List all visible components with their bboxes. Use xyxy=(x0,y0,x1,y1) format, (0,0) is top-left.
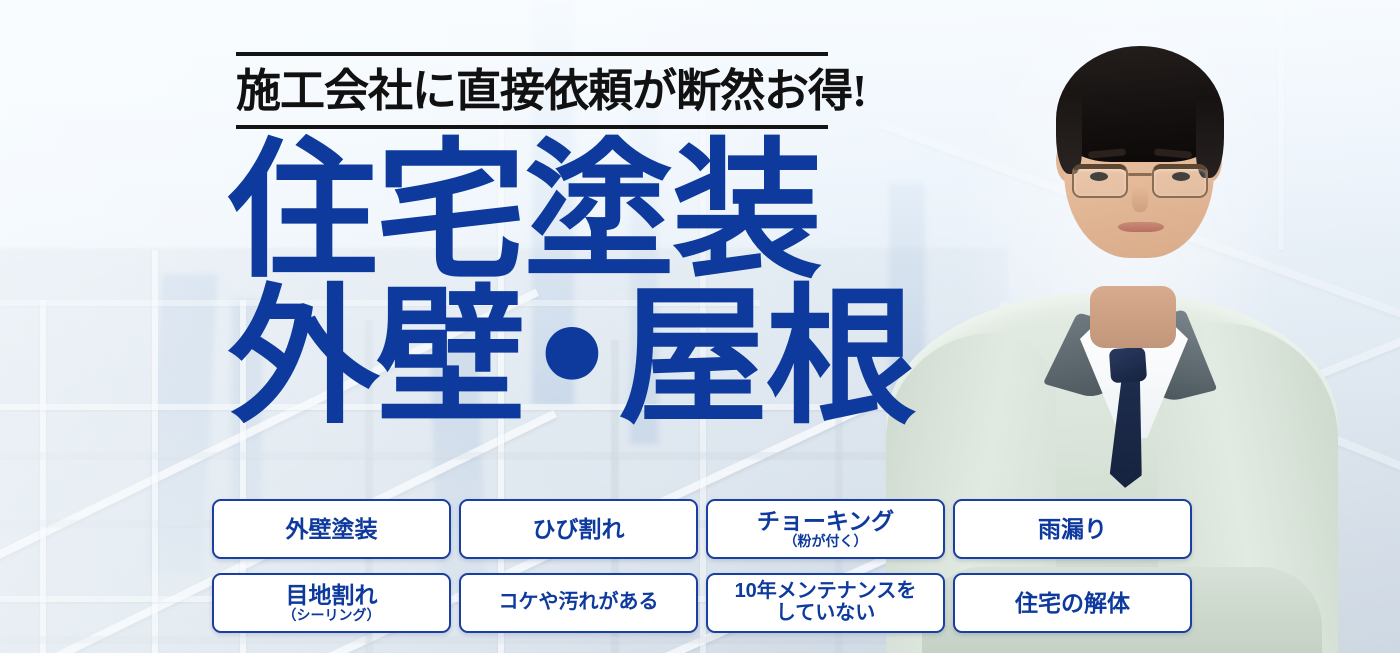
service-tag-grid: 外壁塗装 ひび割れ チョーキング （粉が付く） 雨漏り 目地割れ （シーリング）… xyxy=(212,499,1192,633)
service-tag-chalking[interactable]: チョーキング （粉が付く） xyxy=(706,499,945,559)
heading-line-2: 外壁•屋根 xyxy=(228,286,848,432)
tagline-middle: が xyxy=(632,66,676,116)
glasses-bridge xyxy=(1128,173,1152,176)
necktie-knot xyxy=(1109,347,1147,383)
tag-sublabel: （粉が付く） xyxy=(784,534,868,549)
glasses-lens-right xyxy=(1152,164,1208,198)
hero-banner: 施工会社に直接依頼が断然お得! 住宅塗装 外壁•屋根 外壁塗装 ひび割れ チョー… xyxy=(0,0,1400,653)
service-tag-no-maintenance[interactable]: 10年メンテナンスを していない xyxy=(706,573,945,633)
tagline-highlight-2: 断然お得 xyxy=(676,59,852,123)
service-tag-exterior-painting[interactable]: 外壁塗装 xyxy=(212,499,451,559)
tag-label: 住宅の解体 xyxy=(1015,591,1130,616)
service-tag-leak[interactable]: 雨漏り xyxy=(953,499,1192,559)
tagline-highlight-1: 直接依頼 xyxy=(456,59,632,123)
tag-label: チョーキング xyxy=(757,509,894,534)
service-tag-moss-dirt[interactable]: コケや汚れがある xyxy=(459,573,698,633)
tag-label-second-line: していない xyxy=(776,603,875,625)
mouth xyxy=(1118,222,1164,232)
tagline-suffix: ! xyxy=(852,66,866,116)
tag-label: コケや汚れがある xyxy=(499,592,659,614)
heading-line-1: 住宅塗装 xyxy=(228,140,848,286)
tag-label: ひび割れ xyxy=(533,517,625,542)
tagline-text: 施工会社に直接依頼が断然お得! xyxy=(236,56,828,125)
glasses-lens-left xyxy=(1072,164,1128,198)
page-title: 住宅塗装 外壁•屋根 xyxy=(228,140,848,431)
service-tag-demolition[interactable]: 住宅の解体 xyxy=(953,573,1192,633)
tagline-prefix: 施工会社に xyxy=(236,66,456,116)
neck xyxy=(1090,286,1176,348)
tagline-block: 施工会社に直接依頼が断然お得! xyxy=(236,52,828,129)
tag-label: 10年メンテナンスを xyxy=(735,581,917,603)
glasses-icon xyxy=(1070,160,1210,200)
tag-label: 外壁塗装 xyxy=(286,517,378,542)
tag-label: 雨漏り xyxy=(1038,517,1107,542)
tag-label: 目地割れ xyxy=(286,583,378,608)
service-tag-joint-cracks[interactable]: 目地割れ （シーリング） xyxy=(212,573,451,633)
service-tag-cracks[interactable]: ひび割れ xyxy=(459,499,698,559)
tag-sublabel: （シーリング） xyxy=(283,608,381,623)
